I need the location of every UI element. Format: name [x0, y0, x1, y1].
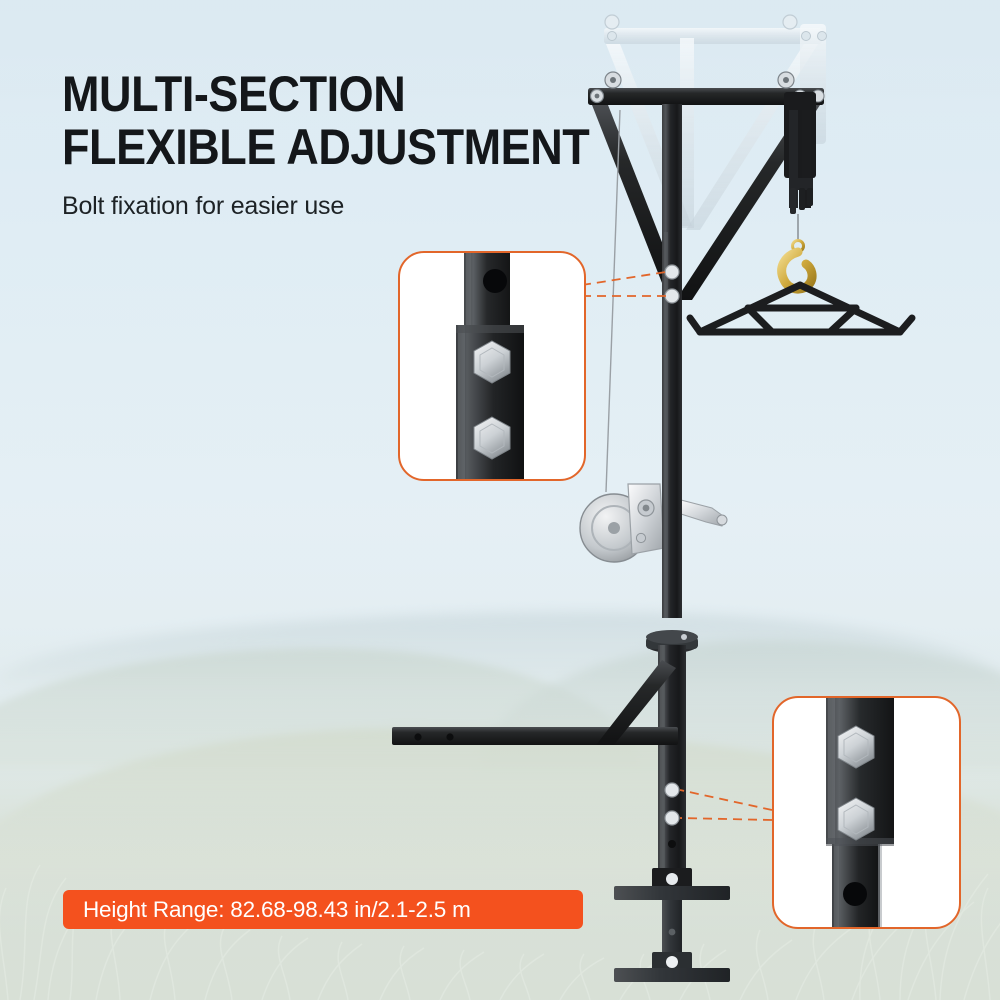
callout-lower-detail-image: [774, 698, 959, 927]
page-title: MULTI-SECTION FLEXIBLE ADJUSTMENT: [62, 68, 602, 174]
pin-hole: [843, 882, 867, 906]
callout-upper-detail-image: [400, 253, 584, 479]
winch-assembly: [580, 110, 727, 562]
spec-banner: Height Range: 82.68-98.43 in/2.1-2.5 m: [63, 890, 583, 929]
lift-cable-and-hook: [782, 214, 812, 289]
product-marketing-image: MULTI-SECTION FLEXIBLE ADJUSTMENT Bolt f…: [0, 0, 1000, 1000]
page-subtitle: Bolt fixation for easier use: [62, 192, 344, 221]
hitch-mount-base: [614, 868, 730, 982]
callout-upper-joint: [398, 251, 586, 481]
spec-banner-label: Height Range: 82.68-98.43 in/2.1-2.5 m: [63, 897, 471, 923]
support-arm: [392, 660, 678, 745]
callout-lower-joint: [772, 696, 961, 929]
boom-tip-clevis: [784, 92, 816, 214]
